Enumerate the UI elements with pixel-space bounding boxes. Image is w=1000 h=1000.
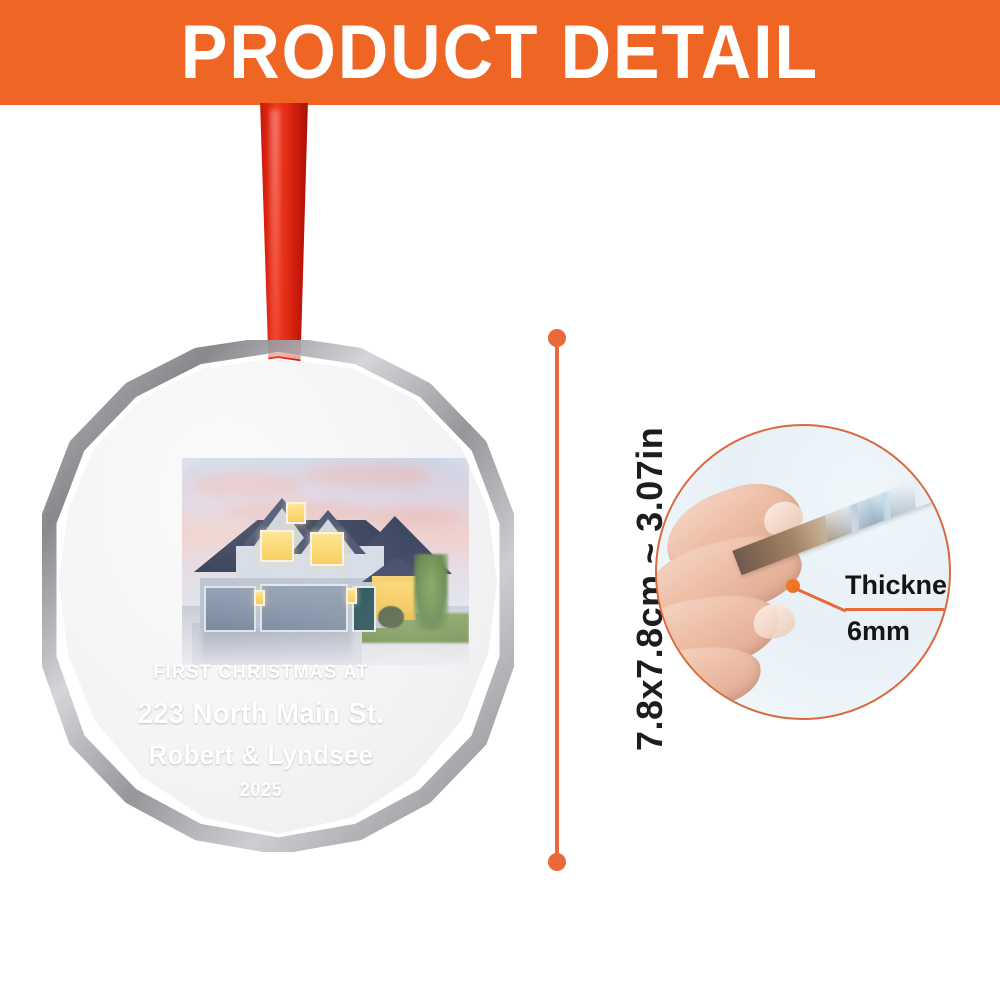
photo-coach-light-left: [254, 590, 265, 606]
product-detail-page: PRODUCT DETAIL: [0, 0, 1000, 1000]
engraved-line-3: Robert & Lyndsee: [119, 740, 402, 771]
dimension-line: [555, 337, 559, 863]
hand-holding-ornament: [655, 490, 825, 700]
engraved-line-2: 223 North Main St.: [119, 698, 402, 731]
edge-facet: [850, 494, 891, 530]
dimension-endpoint-dot-bottom: [548, 853, 566, 871]
photo-garage-right: [260, 584, 348, 632]
thickness-title: Thickness: [845, 570, 951, 601]
engraved-line-4: 2025: [119, 780, 402, 802]
photo-tree: [414, 554, 448, 630]
callout-underline: [845, 608, 951, 611]
finger-pinky: [655, 644, 763, 712]
photo-cloud: [192, 472, 302, 498]
photo-garage-left: [204, 586, 256, 632]
ornament: FIRST CHRISTMAS AT 223 North Main St. Ro…: [42, 340, 514, 852]
dimension-endpoint-dot-top: [548, 329, 566, 347]
ribbon-highlight: [270, 110, 280, 375]
edge-facet: [882, 481, 923, 517]
photo-window-upper-right: [310, 532, 344, 566]
photo-wet-reflection: [202, 628, 352, 662]
photo-coach-light-right: [346, 588, 357, 604]
photo-window-dormer: [286, 502, 306, 524]
photo-shrub: [378, 606, 404, 628]
photo-window-upper-left: [260, 530, 294, 562]
photo-cloud: [302, 464, 432, 486]
header-banner: PRODUCT DETAIL: [0, 0, 1000, 105]
page-title: PRODUCT DETAIL: [181, 15, 819, 91]
engraved-line-1: FIRST CHRISTMAS AT: [119, 662, 402, 684]
photo-cloud: [362, 508, 462, 526]
thickness-value: 6mm: [847, 616, 910, 647]
house-photo: [182, 458, 469, 665]
thickness-callout-circle: Thickness 6mm: [655, 424, 951, 720]
